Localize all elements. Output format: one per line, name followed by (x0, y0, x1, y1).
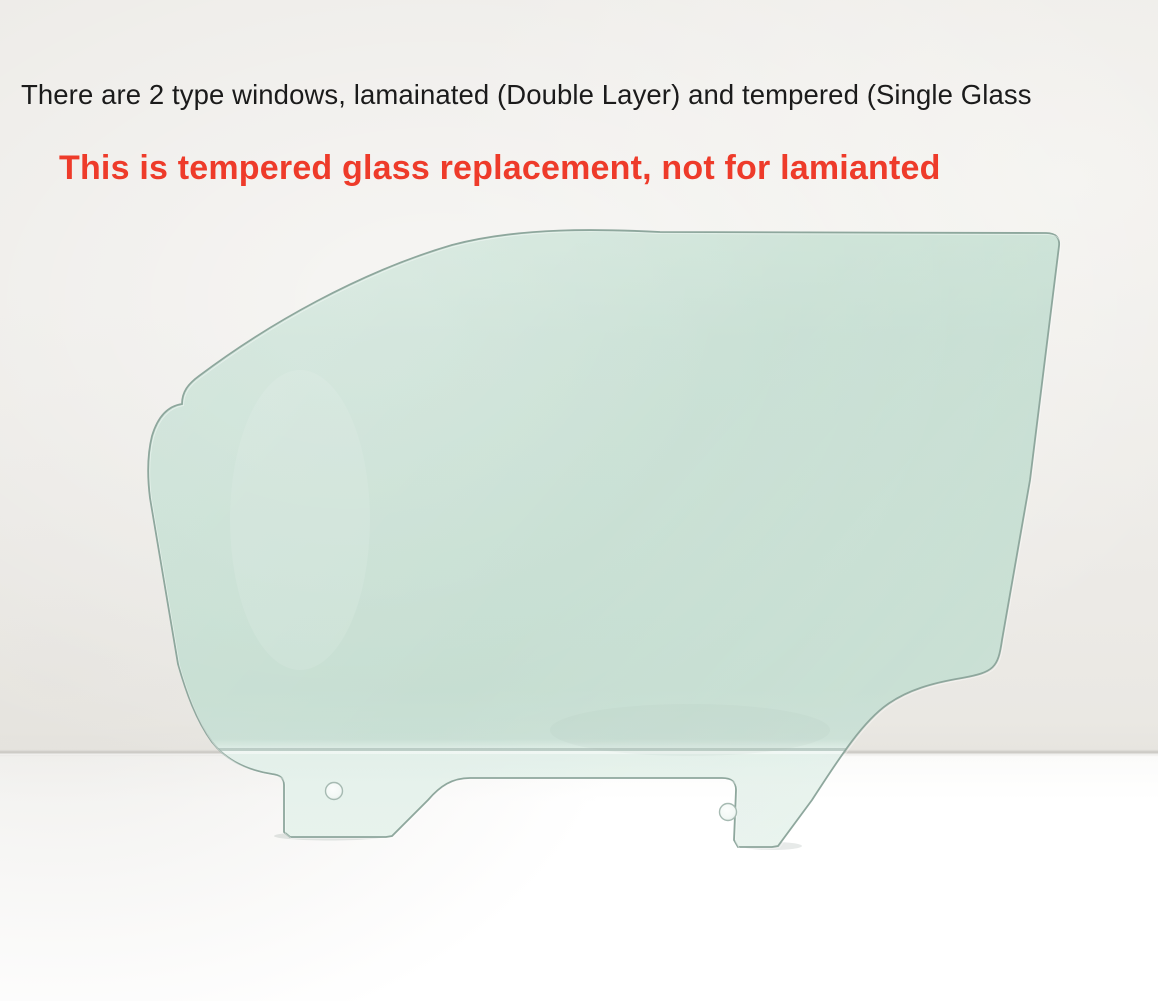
caption-tempered-warning: This is tempered glass replacement, not … (59, 147, 941, 189)
product-photo-screenshot: There are 2 type windows, lamainated (Do… (0, 0, 1158, 1001)
caption-glass-types: There are 2 type windows, lamainated (Do… (21, 78, 1032, 112)
